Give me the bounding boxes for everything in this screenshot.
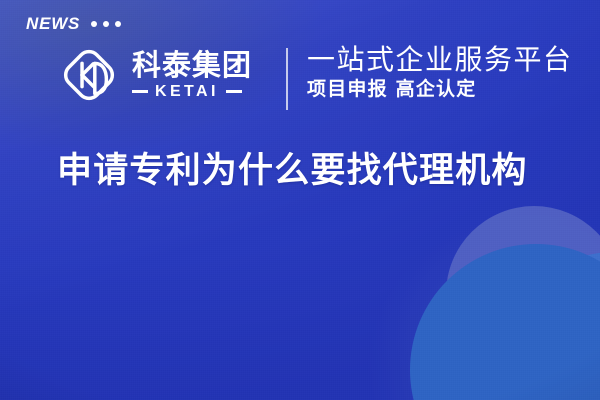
brand-name-en-row: KETAI (132, 84, 252, 100)
brand-rule-right-icon (226, 90, 242, 93)
brand-names: 科泰集团 KETAI (132, 50, 252, 99)
brand-lockup: 科泰集团 KETAI (60, 46, 252, 104)
news-eyebrow: NEWS (26, 15, 121, 32)
ketai-diamond-kd-logo-icon (60, 46, 118, 104)
news-dots-icon (91, 20, 121, 27)
brand-name-cn: 科泰集团 (132, 50, 252, 81)
page-title: 申请专利为什么要找代理机构 (57, 150, 528, 193)
brand-name-en: KETAI (155, 84, 219, 100)
news-label: NEWS (26, 15, 80, 32)
brand-rule-left-icon (132, 90, 148, 93)
tagline-secondary: 项目申报 高企认定 (307, 79, 573, 101)
tagline-primary: 一站式企业服务平台 (307, 44, 573, 75)
brand-divider (286, 48, 288, 110)
tagline-block: 一站式企业服务平台 项目申报 高企认定 (307, 44, 573, 101)
news-banner: NEWS 科泰集团 KE (0, 0, 600, 400)
